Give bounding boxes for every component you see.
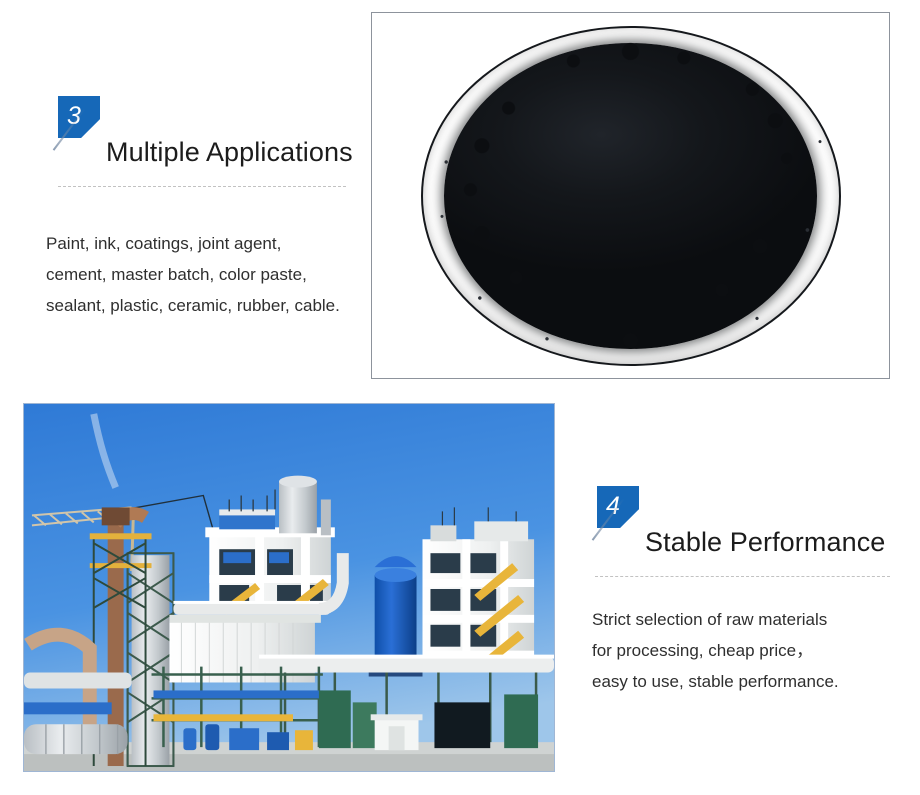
feature-block-multiple-applications: 3 Multiple Applications xyxy=(58,96,378,168)
feature-3-line-3: sealant, plastic, ceramic, rubber, cable… xyxy=(46,290,340,321)
product-detail-page: 3 Multiple Applications Paint, ink, coat… xyxy=(0,0,920,795)
feature-4-line-1: Strict selection of raw materials xyxy=(592,604,839,635)
carbon-black-powder xyxy=(444,43,818,349)
carbon-black-dish-image xyxy=(421,26,841,366)
feature-number-badge-3: 3 xyxy=(58,96,100,138)
feature-4-line-3: easy to use, stable performance. xyxy=(592,666,839,697)
feature-body-4: Strict selection of raw materials for pr… xyxy=(592,604,839,697)
feature-block-stable-performance: 4 Stable Performance xyxy=(597,486,897,558)
feature-number-badge-4: 4 xyxy=(597,486,639,528)
feature-divider-4 xyxy=(595,576,890,577)
feature-4-header: 4 Stable Performance xyxy=(597,486,897,558)
feature-body-3: Paint, ink, coatings, joint agent, cemen… xyxy=(46,228,340,321)
feature-title-3: Multiple Applications xyxy=(106,137,353,168)
feature-title-4: Stable Performance xyxy=(645,527,885,558)
factory-plant-photo xyxy=(23,403,555,772)
feature-3-line-2: cement, master batch, color paste, xyxy=(46,259,340,290)
factory-illustration xyxy=(24,404,554,771)
feature-4-line-2: for processing, cheap price， xyxy=(592,635,839,666)
feature-3-line-1: Paint, ink, coatings, joint agent, xyxy=(46,228,340,259)
product-image-panel xyxy=(371,12,890,379)
feature-divider-3 xyxy=(58,186,346,187)
feature-3-header: 3 Multiple Applications xyxy=(58,96,378,168)
